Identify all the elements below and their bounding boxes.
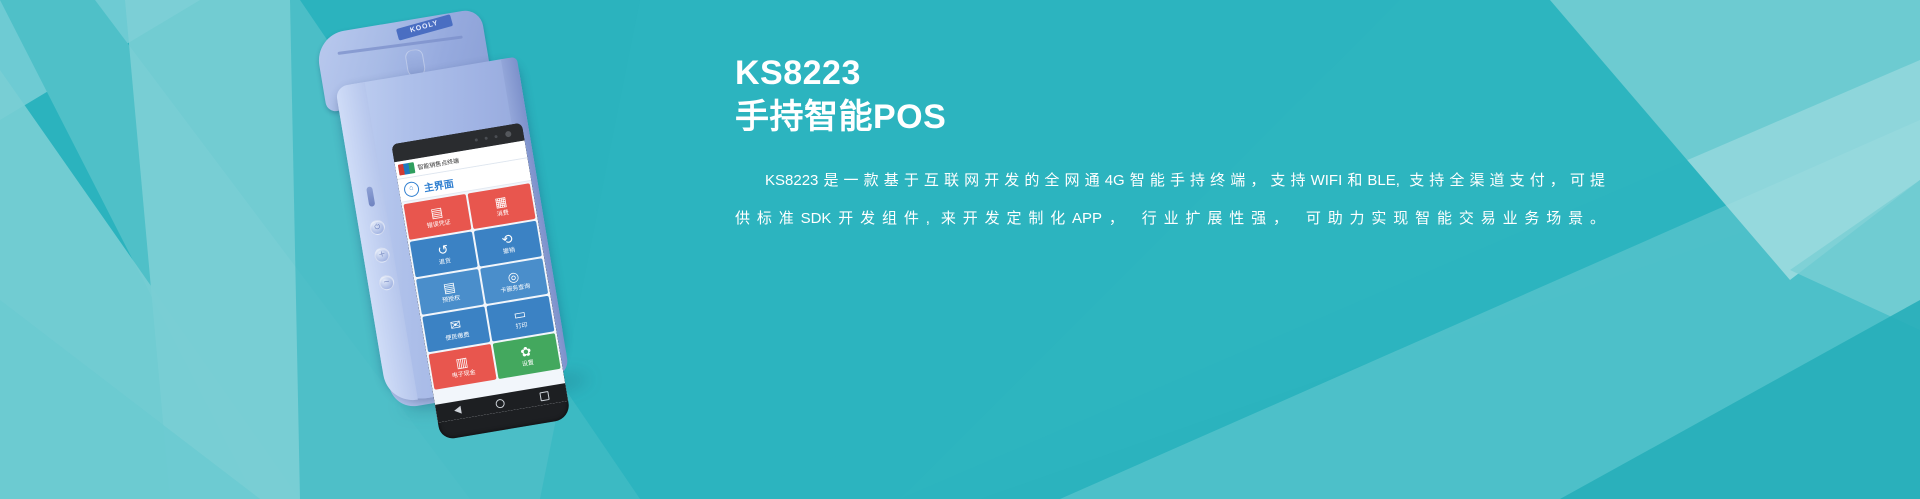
- app-tile[interactable]: ✿ 设置: [493, 333, 561, 379]
- unionpay-logo-icon: [398, 162, 416, 175]
- tile-icon: ⟲: [501, 232, 514, 247]
- banner-copy: KS8223 手持智能POS KS8223是一款基于互联网开发的全网通4G智能手…: [735, 52, 1635, 238]
- tile-icon: ▤: [430, 205, 444, 220]
- speaker-icon: [475, 138, 478, 141]
- tile-icon: ✉: [449, 318, 462, 333]
- tile-label: 预授权: [442, 294, 461, 304]
- device-screen: 智能销售点终端 ⌂ 主界面 ▤ 错误凭证 ▦: [391, 123, 571, 441]
- pos-terminal: KOOLY ⏻ ＋ －: [300, 0, 621, 417]
- tile-label: 退货: [438, 257, 451, 266]
- tile-label: 便民缴费: [445, 331, 470, 342]
- device-body: ⏻ ＋ － 智能销售点终端: [335, 57, 570, 405]
- tile-label: 卡服务查询: [500, 283, 531, 295]
- statusbar-title: 智能销售点终端: [417, 156, 460, 172]
- product-description: KS8223是一款基于互联网开发的全网通4G智能手持终端，支持WIFI和BLE,…: [735, 162, 1605, 238]
- tile-icon: ▤: [442, 280, 456, 295]
- proximity-sensor-icon: [494, 135, 497, 138]
- light-sensor-icon: [484, 137, 487, 140]
- product-banner: KOOLY ⏻ ＋ －: [0, 0, 1920, 499]
- front-camera-icon: [505, 131, 512, 138]
- product-model-title: KS8223: [735, 52, 1635, 94]
- android-navbar: [435, 383, 568, 423]
- home-icon[interactable]: ⌂: [403, 180, 420, 197]
- screen-header-title: 主界面: [423, 174, 455, 194]
- product-subtitle: 手持智能POS: [735, 96, 1635, 138]
- tile-label: 设置: [521, 359, 534, 368]
- screen-ui: 智能销售点终端 ⌂ 主界面 ▤ 错误凭证 ▦: [394, 140, 568, 422]
- tile-icon: ▭: [513, 307, 527, 322]
- description-line-2: 供标准SDK开发组件, 来开发定制化APP， 行业扩展性强， 可助力实现智能交易…: [735, 200, 1605, 238]
- tile-icon: ▦: [494, 194, 508, 209]
- tile-icon: ▥: [455, 355, 469, 370]
- tile-label: 打印: [515, 322, 528, 331]
- tile-icon: ↺: [437, 243, 450, 258]
- device-left-edge: [335, 82, 418, 405]
- recents-icon[interactable]: [539, 390, 549, 400]
- tile-label: 消费: [496, 209, 509, 218]
- tile-icon: ◎: [507, 269, 520, 284]
- pos-device-image: KOOLY ⏻ ＋ －: [330, 8, 630, 408]
- back-icon[interactable]: [453, 406, 461, 415]
- description-line-1: KS8223是一款基于互联网开发的全网通4G智能手持终端，支持WIFI和BLE,…: [735, 162, 1605, 200]
- tile-label: 撤销: [503, 247, 516, 256]
- tile-icon: ✿: [519, 344, 532, 359]
- tile-label: 电子现金: [451, 369, 476, 380]
- home-nav-icon[interactable]: [495, 398, 505, 408]
- tile-label: 错误凭证: [426, 219, 451, 230]
- app-tile[interactable]: ▥ 电子现金: [429, 344, 497, 390]
